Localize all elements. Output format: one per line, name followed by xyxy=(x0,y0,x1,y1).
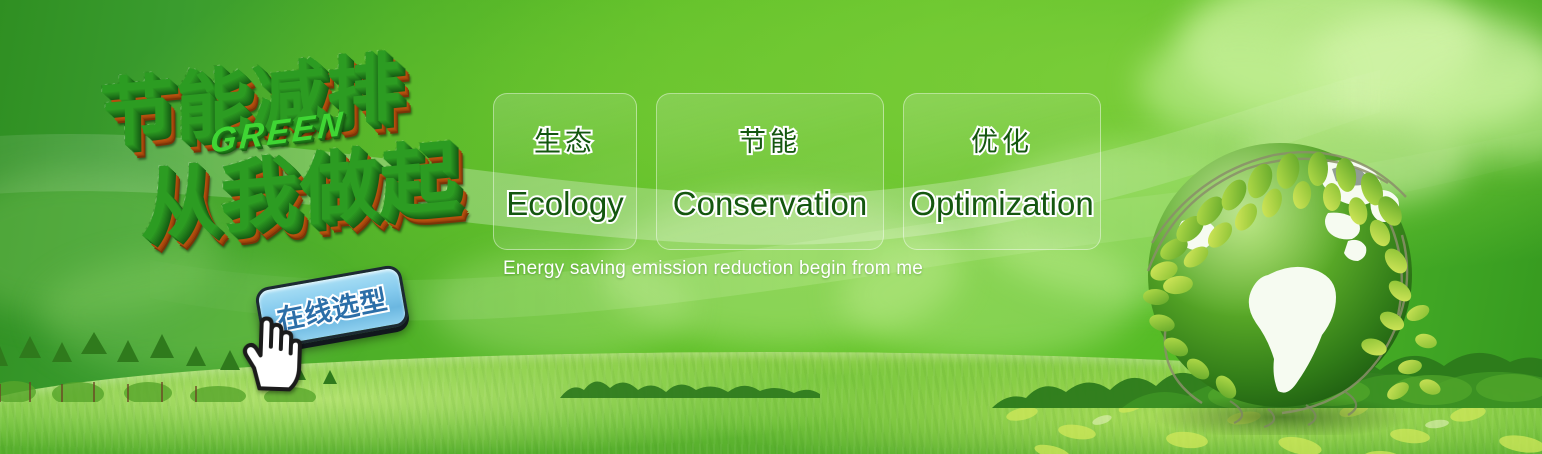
green-energy-banner: 节能减排 GREEN 从我做起 在线选型 生态 Ecology 节能 Conse… xyxy=(0,0,1542,454)
feature-card-cn-label: 优化 xyxy=(971,120,1033,159)
feature-cards: 生态 Ecology 节能 Conservation 优化 Optimizati… xyxy=(493,93,1101,250)
leafy-earth-globe xyxy=(1122,125,1442,435)
banner-subtitle: Energy saving emission reduction begin f… xyxy=(503,258,923,280)
feature-card-en-label: Conservation xyxy=(673,185,867,223)
globe-graphic xyxy=(1122,125,1442,435)
feature-card-cn-label: 节能 xyxy=(739,120,801,159)
feature-card-optimization[interactable]: 优化 Optimization xyxy=(903,93,1101,250)
feature-card-conservation[interactable]: 节能 Conservation xyxy=(656,93,884,250)
hand-pointer-icon xyxy=(237,310,310,392)
feature-card-en-label: Optimization xyxy=(910,185,1093,223)
feature-card-cn-label: 生态 xyxy=(534,120,596,159)
headline-3d: 节能减排 GREEN 从我做起 xyxy=(85,17,506,294)
feature-card-en-label: Ecology xyxy=(506,185,623,223)
feature-card-ecology[interactable]: 生态 Ecology xyxy=(493,93,637,250)
